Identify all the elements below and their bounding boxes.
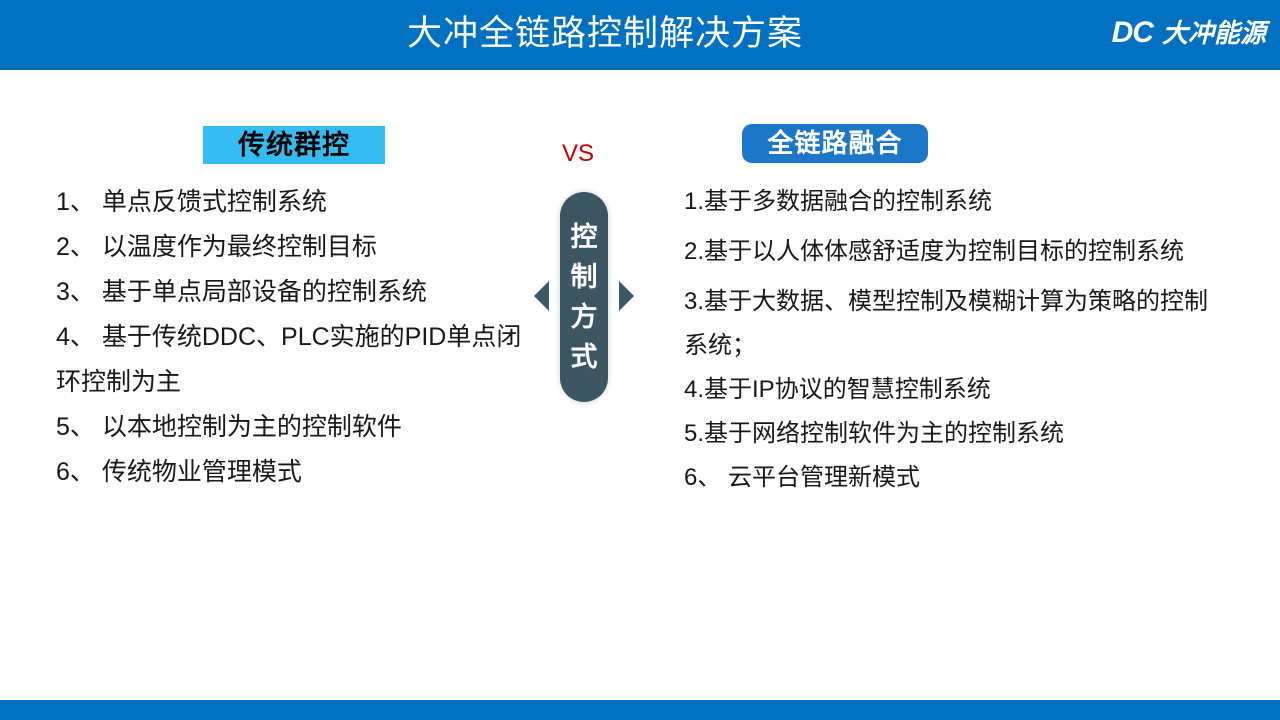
control-mode-badge-text: 控 制 方 式 [560,192,608,402]
left-column-list: 1、 单点反馈式控制系统 2、 以温度作为最终控制目标 3、 基于单点局部设备的… [56,180,536,495]
list-item: 1、 单点反馈式控制系统 [56,180,536,225]
badge-char: 控 [571,217,598,257]
list-item: 2、 以温度作为最终控制目标 [56,225,536,270]
list-item: 3.基于大数据、模型控制及模糊计算为策略的控制 [684,280,1280,324]
list-item-continuation-label: 系统； [684,332,756,359]
list-item: 4.基于IP协议的智慧控制系统 [684,368,1280,412]
list-item: 3、 基于单点局部设备的控制系统 [56,270,536,315]
list-item: 6、 云平台管理新模式 [684,456,1280,500]
brand-logo: DC 大冲能源 [1112,16,1266,50]
right-column-heading: 全链路融合 [742,124,928,163]
badge-char: 式 [571,337,598,377]
badge-char: 方 [571,297,598,337]
left-column-heading: 传统群控 [203,126,385,164]
badge-char: 制 [571,257,598,297]
list-item: 4、 基于传统DDC、PLC实施的PID单点闭环控制为主 [56,315,536,405]
footer-bar [0,700,1280,720]
brand-name-label: 大冲能源 [1162,16,1266,50]
list-item: 5、 以本地控制为主的控制软件 [56,405,536,450]
brand-mark-dc: DC [1112,16,1153,50]
list-item: 1.基于多数据融合的控制系统 [684,180,1280,224]
control-mode-badge: 控 制 方 式 [560,192,608,402]
arrow-left-icon [534,281,549,311]
vs-label: VS [552,140,604,168]
right-column-list: 1.基于多数据融合的控制系统 2.基于以人体体感舒适度为控制目标的控制系统 3.… [684,180,1280,500]
list-item-continuation: 系统； [684,324,1280,368]
list-item: 5.基于网络控制软件为主的控制系统 [684,412,1280,456]
arrow-right-icon [619,281,634,311]
list-item: 6、 传统物业管理模式 [56,450,536,495]
list-item: 2.基于以人体体感舒适度为控制目标的控制系统 [684,230,1280,274]
page-title: 大冲全链路控制解决方案 [0,12,1280,56]
